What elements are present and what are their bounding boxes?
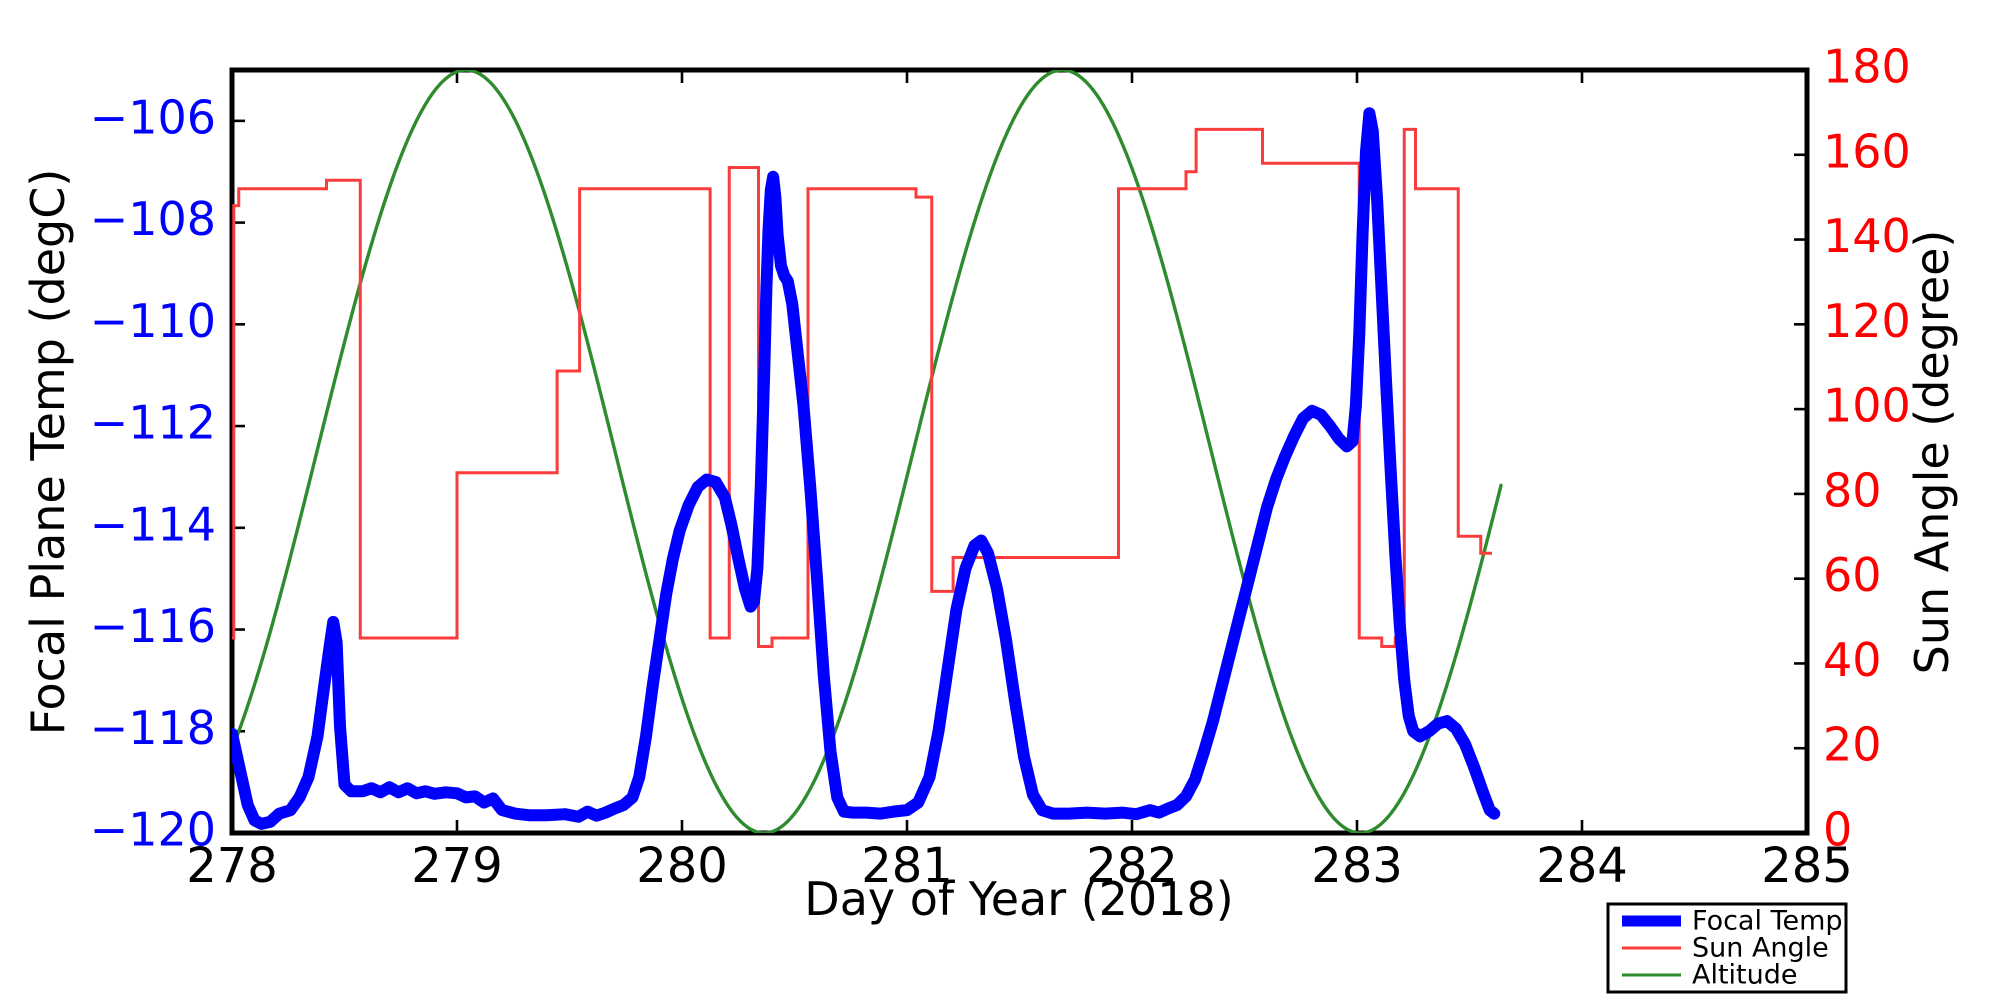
- y-axis-right-title: Sun Angle (degree): [1905, 230, 1959, 675]
- x-ticklabel: 283: [1311, 838, 1403, 894]
- y-ticklabel-right: 20: [1823, 718, 1882, 772]
- y-ticklabel-right: 160: [1823, 124, 1911, 178]
- x-ticklabel: 280: [636, 838, 728, 894]
- focal-plane-temperature-chart: −120−118−116−114−112−110−108−106 0204060…: [0, 0, 2000, 1000]
- y-ticklabel-left: −112: [90, 396, 216, 450]
- x-ticklabel: 279: [411, 838, 503, 894]
- y-ticklabel-left: −114: [90, 497, 216, 551]
- y-ticklabel-left: −106: [90, 90, 216, 144]
- y-ticklabel-right: 140: [1823, 209, 1911, 263]
- y-ticklabel-right: 80: [1823, 463, 1882, 517]
- y-ticklabel-left: −118: [90, 701, 216, 755]
- x-axis-title: Day of Year (2018): [804, 872, 1233, 926]
- y-ticklabel-right: 60: [1823, 548, 1882, 602]
- y-axis-left-ticks: −120−118−116−114−112−110−108−106: [90, 90, 245, 856]
- x-ticklabel: 284: [1536, 838, 1628, 894]
- x-ticklabel: 278: [186, 838, 278, 894]
- legend-label-altitude: Altitude: [1692, 960, 1798, 991]
- y-ticklabel-left: −116: [90, 599, 216, 653]
- y-axis-right-ticks: 020406080100120140160180: [1794, 40, 1911, 857]
- x-ticklabel: 285: [1761, 838, 1853, 894]
- y-ticklabel-right: 120: [1823, 294, 1911, 348]
- chart-page: −120−118−116−114−112−110−108−106 0204060…: [0, 0, 2000, 1000]
- legend[interactable]: Focal Temp Sun Angle Altitude: [1608, 904, 1846, 992]
- y-axis-left-title: Focal Plane Temp (degC): [21, 169, 75, 736]
- y-ticklabel-left: −110: [90, 294, 216, 348]
- y-ticklabel-right: 180: [1823, 40, 1911, 94]
- y-ticklabel-right: 100: [1823, 379, 1911, 433]
- y-ticklabel-left: −108: [90, 192, 216, 246]
- y-ticklabel-right: 40: [1823, 633, 1882, 687]
